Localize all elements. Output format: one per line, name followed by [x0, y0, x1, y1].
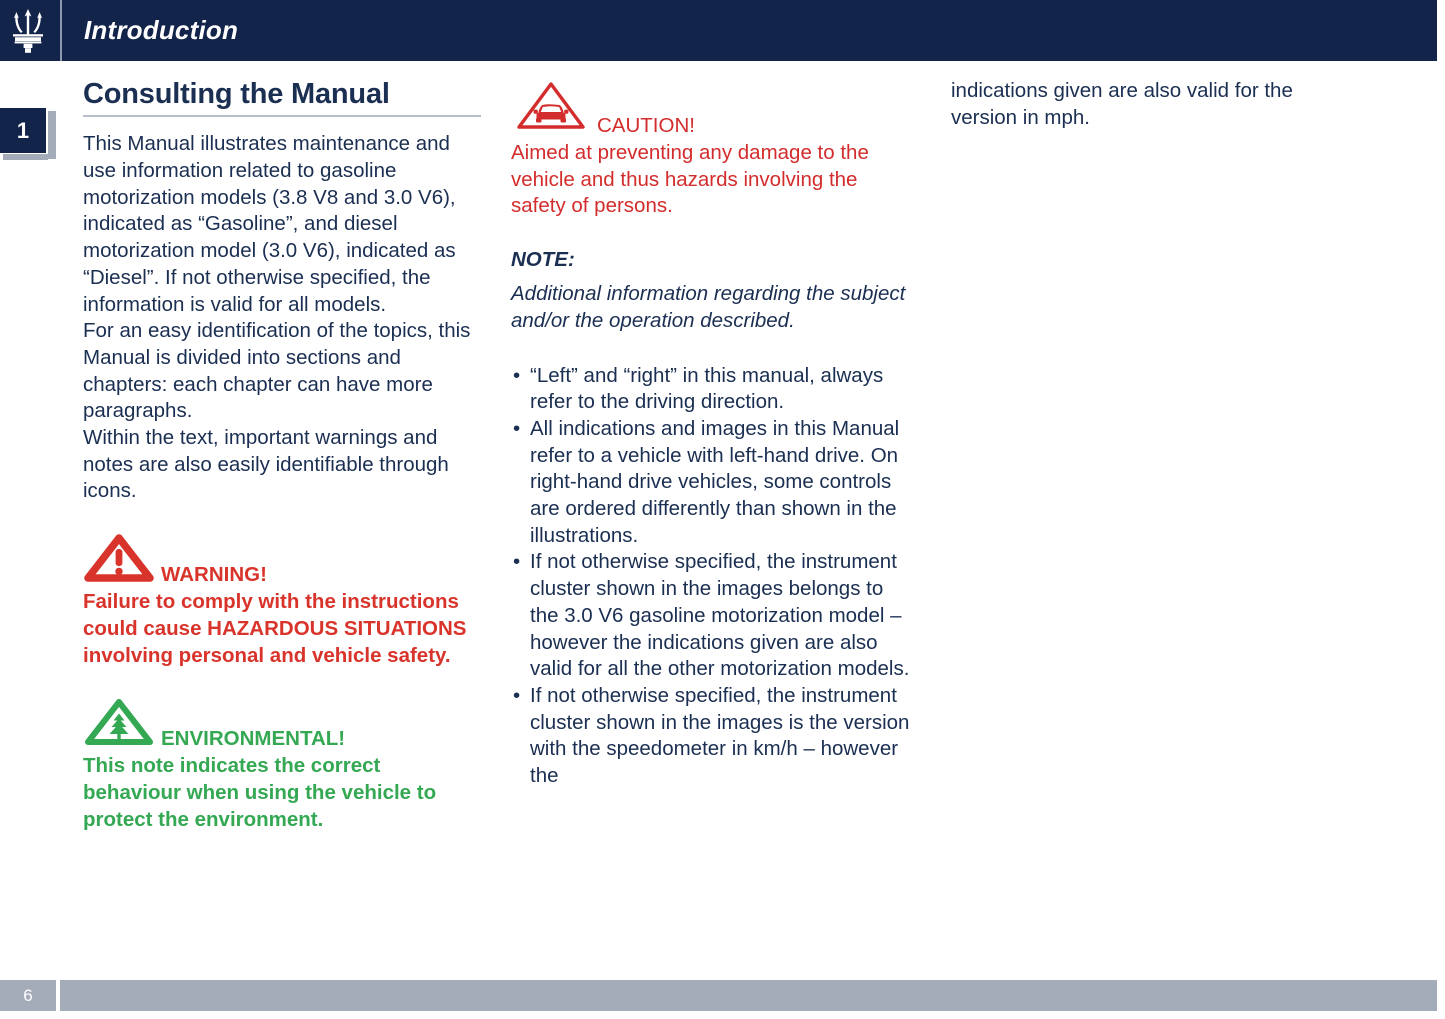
page-footer: 6 — [0, 980, 1437, 1011]
page-header: Introduction — [0, 0, 1437, 61]
right-column: indications given are also valid for the… — [951, 78, 1351, 833]
chapter-tab-number: 1 — [0, 108, 46, 153]
warning-callout: WARNING! Failure to comply with the inst… — [83, 533, 483, 669]
caution-car-triangle-icon — [511, 78, 591, 139]
note-label: NOTE: — [511, 248, 911, 272]
list-item: If not otherwise specified, the instrume… — [511, 549, 911, 683]
caution-label: CAUTION! — [597, 115, 695, 139]
warning-body: Failure to comply with the instructions … — [83, 589, 483, 669]
environmental-label: ENVIRONMENTAL! — [161, 728, 345, 752]
maserati-trident-icon — [0, 0, 56, 61]
page-content: Consulting the Manual This Manual illust… — [83, 78, 1383, 833]
environmental-body: This note indicates the correct behaviou… — [83, 753, 483, 833]
chapter-tab-shadow-right — [48, 111, 56, 159]
footer-divider — [56, 980, 60, 1011]
notes-bullet-list: “Left” and “right” in this manual, alway… — [511, 363, 911, 790]
section-title-rule — [83, 115, 481, 117]
list-item: If not otherwise specified, the instrume… — [511, 683, 911, 790]
left-column: Consulting the Manual This Manual illust… — [83, 78, 483, 833]
page-title: Introduction — [62, 15, 238, 46]
note-block: NOTE: Additional information regarding t… — [511, 248, 911, 334]
environmental-callout: ENVIRONMENTAL! This note indicates the c… — [83, 697, 483, 833]
list-item: “Left” and “right” in this manual, alway… — [511, 363, 911, 416]
middle-column: CAUTION! Aimed at preventing any damage … — [511, 78, 911, 833]
note-body: Additional information regarding the sub… — [511, 281, 911, 334]
continuation-paragraph: indications given are also valid for the… — [951, 78, 1351, 131]
chapter-tab[interactable]: 1 — [0, 108, 58, 160]
chapter-tab-shadow-bottom — [3, 154, 48, 160]
intro-paragraph: This Manual illustrates maintenance and … — [83, 131, 483, 505]
list-item: All indications and images in this Manua… — [511, 416, 911, 550]
warning-label: WARNING! — [161, 564, 267, 588]
section-title: Consulting the Manual — [83, 78, 483, 111]
page-number: 6 — [0, 986, 56, 1006]
caution-callout: CAUTION! Aimed at preventing any damage … — [511, 78, 911, 220]
warning-triangle-icon — [83, 533, 155, 588]
caution-body: Aimed at preventing any damage to the ve… — [511, 140, 911, 220]
environmental-tree-triangle-icon — [83, 697, 155, 752]
